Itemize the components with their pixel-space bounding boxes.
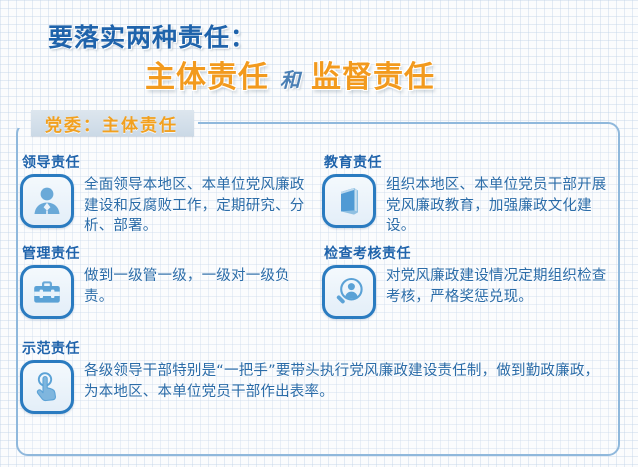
item-lingdao-zeren: 领导责任 全面领导本地区、本单位党风廉政建设和反腐败工作，定期研究、分析、部署。 bbox=[20, 152, 320, 237]
book-icon bbox=[322, 174, 376, 228]
item-description: 全面领导本地区、本单位党风廉政建设和反腐败工作，定期研究、分析、部署。 bbox=[84, 175, 310, 237]
item-jiaoyu-zeren: 教育责任 组织本地区、本单位党员干部开展党风廉政教育，加强廉政文化建设。 bbox=[322, 152, 622, 237]
title-line-1: 要落实两种责任： bbox=[48, 18, 256, 54]
item-description: 组织本地区、本单位党员干部开展党风廉政教育，加强廉政文化建设。 bbox=[386, 175, 612, 237]
item-jianchakaohe-zeren: 检查考核责任 对党风廉政建设情况定期组织检查考核，严格奖惩兑现。 bbox=[322, 243, 622, 319]
item-label: 管理责任 bbox=[22, 243, 320, 263]
item-shifan-zeren: 示范责任 各级领导干部特别是“一把手”要带头执行党风廉政建设责任制，做到勤政廉政… bbox=[20, 338, 620, 414]
title-line-2: 主体责任和监督责任 bbox=[145, 52, 435, 96]
hand-touch-icon bbox=[20, 360, 74, 414]
briefcase-icon bbox=[20, 265, 74, 319]
magnifier-person-icon bbox=[322, 265, 376, 319]
item-guanli-zeren: 管理责任 做到一级管一级，一级对一级负责。 bbox=[20, 243, 320, 319]
item-label: 示范责任 bbox=[22, 338, 620, 358]
section-header-band: 党委：主体责任 bbox=[31, 110, 194, 136]
item-label: 检查考核责任 bbox=[324, 243, 622, 263]
person-icon bbox=[20, 174, 74, 228]
section-header-label: 党委：主体责任 bbox=[45, 111, 178, 136]
title-conjunction: 和 bbox=[269, 68, 311, 92]
item-description: 对党风廉政建设情况定期组织检查考核，严格奖惩兑现。 bbox=[386, 266, 612, 307]
item-description: 各级领导干部特别是“一把手”要带头执行党风廉政建设责任制，做到勤政廉政，为本地区… bbox=[84, 361, 600, 402]
item-label: 领导责任 bbox=[22, 152, 320, 172]
title-block: 要落实两种责任： 主体责任和监督责任 bbox=[0, 0, 638, 105]
title-term-jiandu: 监督责任 bbox=[311, 60, 435, 95]
item-description: 做到一级管一级，一级对一级负责。 bbox=[84, 266, 310, 307]
item-label: 教育责任 bbox=[324, 152, 622, 172]
title-term-zhutizeren: 主体责任 bbox=[145, 60, 269, 95]
